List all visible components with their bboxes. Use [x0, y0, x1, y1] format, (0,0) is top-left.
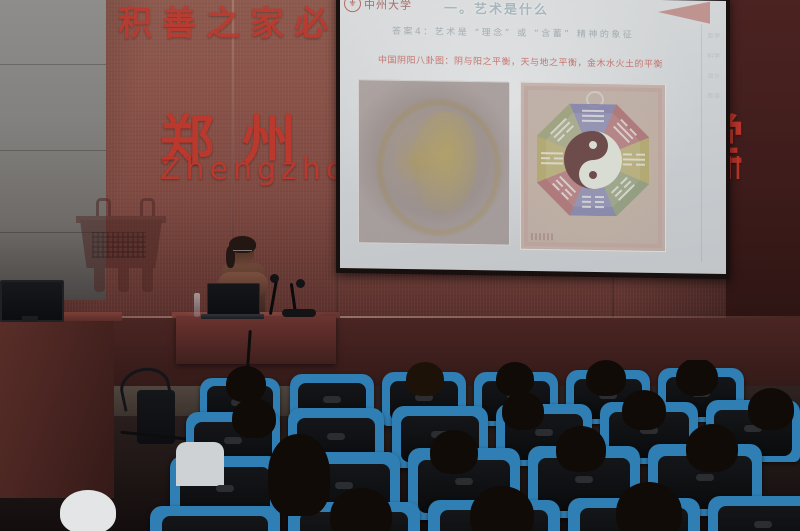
yin-yang-icon	[564, 130, 622, 189]
seat	[150, 506, 280, 531]
seat	[708, 496, 800, 531]
slide-side-labels: 哲学 科学 设计 民俗	[704, 31, 724, 100]
audience-head	[232, 398, 276, 438]
audience-head	[430, 430, 478, 474]
lecture-hall-photo: 积善之家必有 郑州 Zhengzhou 堂 hall ⚜ 中州大学 一。艺术是什…	[0, 0, 800, 531]
audience-head	[502, 392, 544, 430]
plaque-signature	[531, 233, 555, 240]
audience-head	[406, 362, 444, 396]
wall-right-panel	[726, 0, 800, 352]
audience-head	[496, 362, 534, 396]
slide-logo: ⚜ 中州大学	[344, 0, 412, 13]
audience-head	[556, 426, 606, 472]
slide-side-divider	[701, 25, 702, 262]
laptop	[207, 283, 260, 318]
podium	[176, 316, 336, 364]
audience-head	[622, 390, 666, 430]
projection-screen: ⚜ 中州大学 一。艺术是什么 答案4：艺术是 “理念” 或 “含蓄” 精神的象征…	[340, 0, 726, 274]
bronze-ding-vessel-icon	[72, 196, 176, 294]
slide-side-label: 科学	[707, 51, 720, 60]
audience-head	[268, 434, 330, 516]
audience-head	[676, 360, 718, 396]
seal-icon: ⚜	[344, 0, 361, 12]
water-bottle	[194, 293, 200, 317]
slide-side-label: 设计	[707, 71, 720, 80]
slide-side-label: 哲学	[707, 31, 720, 40]
triangle-left-icon	[658, 1, 710, 24]
glasses-icon	[233, 250, 252, 256]
audience-head	[226, 366, 266, 402]
slide-title: 一。艺术是什么	[444, 0, 549, 18]
audience-shirt	[176, 442, 224, 486]
audience-head	[686, 424, 738, 472]
slide-logo-text: 中州大学	[364, 0, 412, 13]
bagua-yinyang-plaque	[520, 82, 666, 252]
audience-head	[748, 388, 794, 430]
nebula-photo	[358, 79, 510, 245]
audience-head	[586, 360, 626, 396]
monitor-stand	[22, 316, 38, 322]
audience-person-white-shirt	[60, 490, 116, 531]
microphone-head	[270, 274, 279, 283]
audience-head	[470, 486, 534, 531]
projection-screen-frame: ⚜ 中州大学 一。艺术是什么 答案4：艺术是 “理念” 或 “含蓄” 精神的象征…	[336, 0, 730, 279]
laptop-base	[201, 314, 264, 319]
audience-seating	[0, 360, 800, 531]
slide-side-label: 民俗	[707, 91, 720, 100]
microphone-head	[296, 279, 305, 288]
microphone-base	[282, 309, 316, 317]
